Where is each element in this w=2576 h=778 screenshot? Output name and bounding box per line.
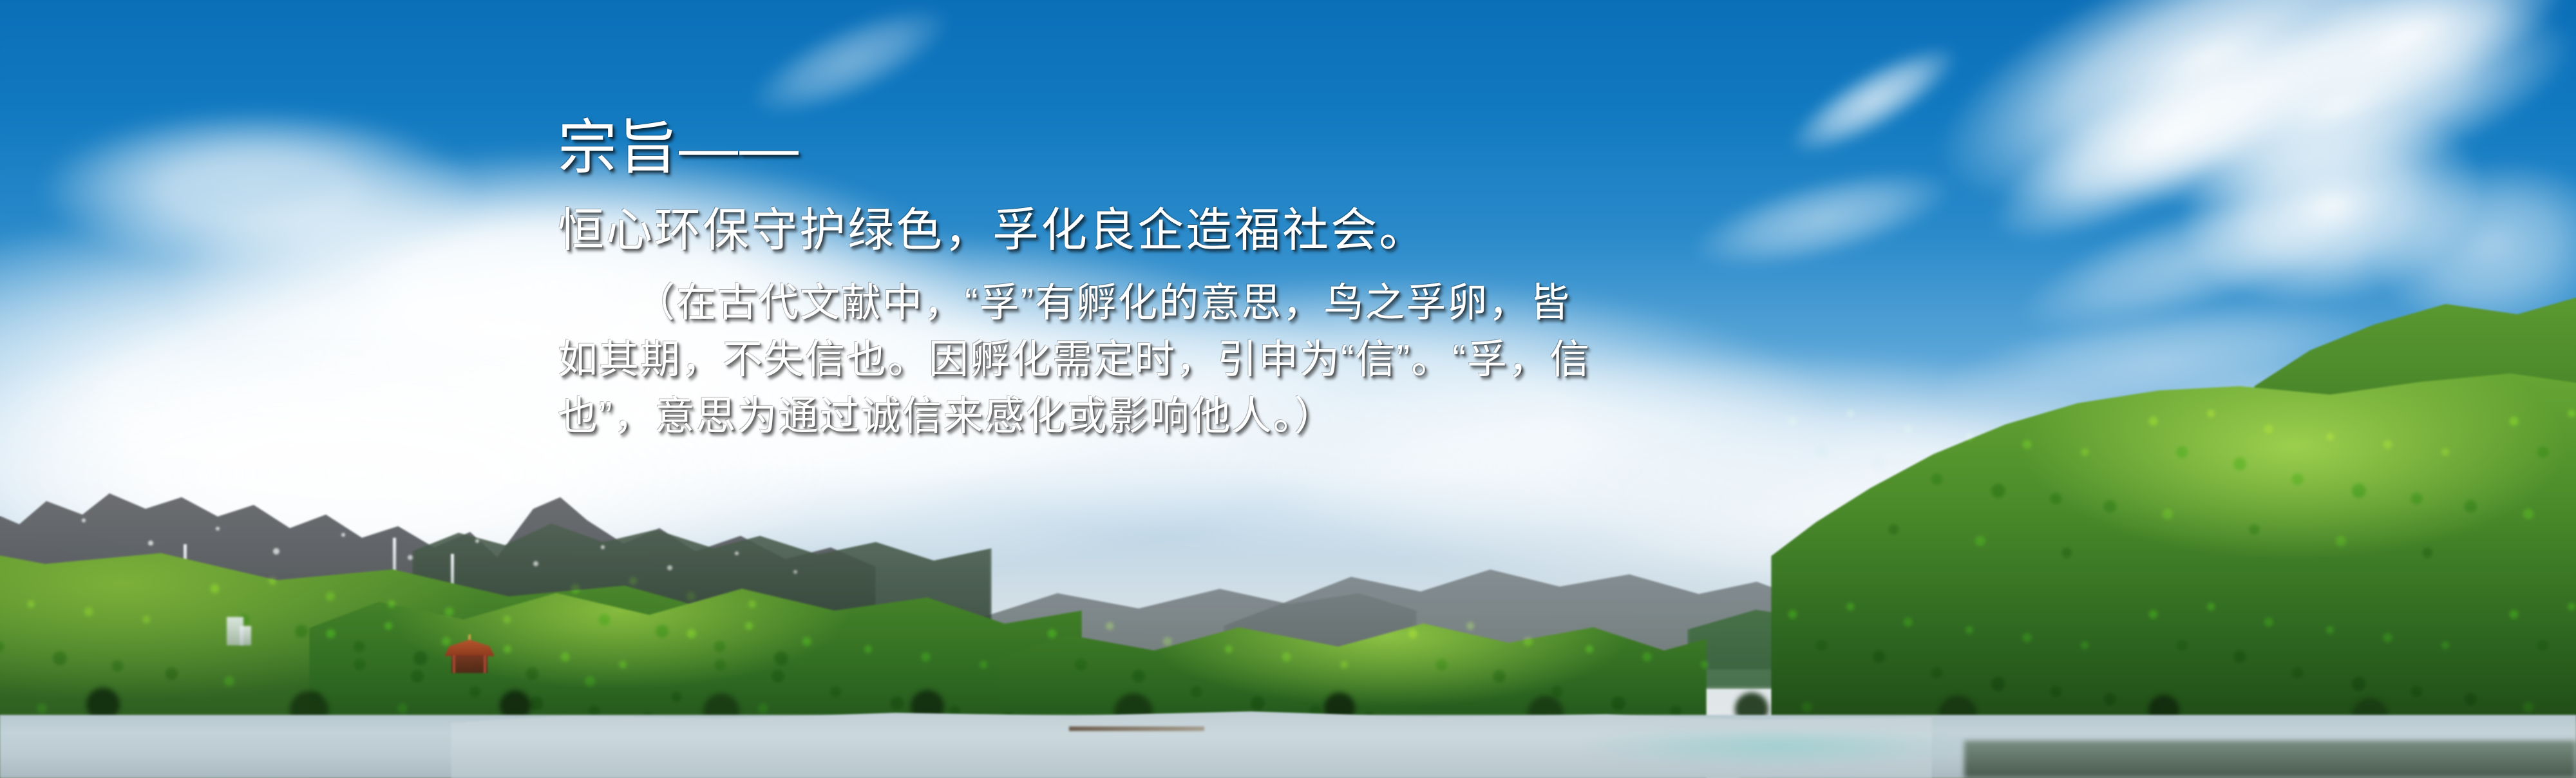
banner-text-block: 宗旨—— 恒心环保守护绿色，孚化良企造福社会。 （在古代文献中，“孚”有孵化的意… — [558, 115, 2039, 445]
banner-title: 宗旨—— — [558, 115, 2039, 182]
note-line-2: 如其期，不失信也。因孵化需定时，引申为“信”。“孚，信 — [558, 332, 2039, 388]
red-roof-pavilion — [444, 634, 495, 674]
cloud-bank-7 — [39, 109, 477, 270]
banner-stage: 宗旨—— 恒心环保守护绿色，孚化良企造福社会。 （在古代文献中，“孚”有孵化的意… — [0, 0, 2576, 778]
note-line-3: 也”，意思为通过诚信来感化或影响他人。） — [558, 388, 2039, 445]
distant-building-2 — [240, 626, 251, 645]
lake-teal-shallows — [1578, 731, 1977, 770]
pavilion-roof — [444, 640, 495, 656]
lake-dark-reflection — [1964, 741, 2576, 778]
banner-note: （在古代文献中，“孚”有孵化的意思，鸟之孚卵，皆 如其期，不失信也。因孵化需定时… — [558, 275, 2039, 445]
lakeside-dock — [1069, 726, 1204, 731]
banner-slogan: 恒心环保守护绿色，孚化良企造福社会。 — [558, 203, 2039, 258]
note-line-1: （在古代文献中，“孚”有孵化的意思，鸟之孚卵，皆 — [558, 275, 2039, 332]
